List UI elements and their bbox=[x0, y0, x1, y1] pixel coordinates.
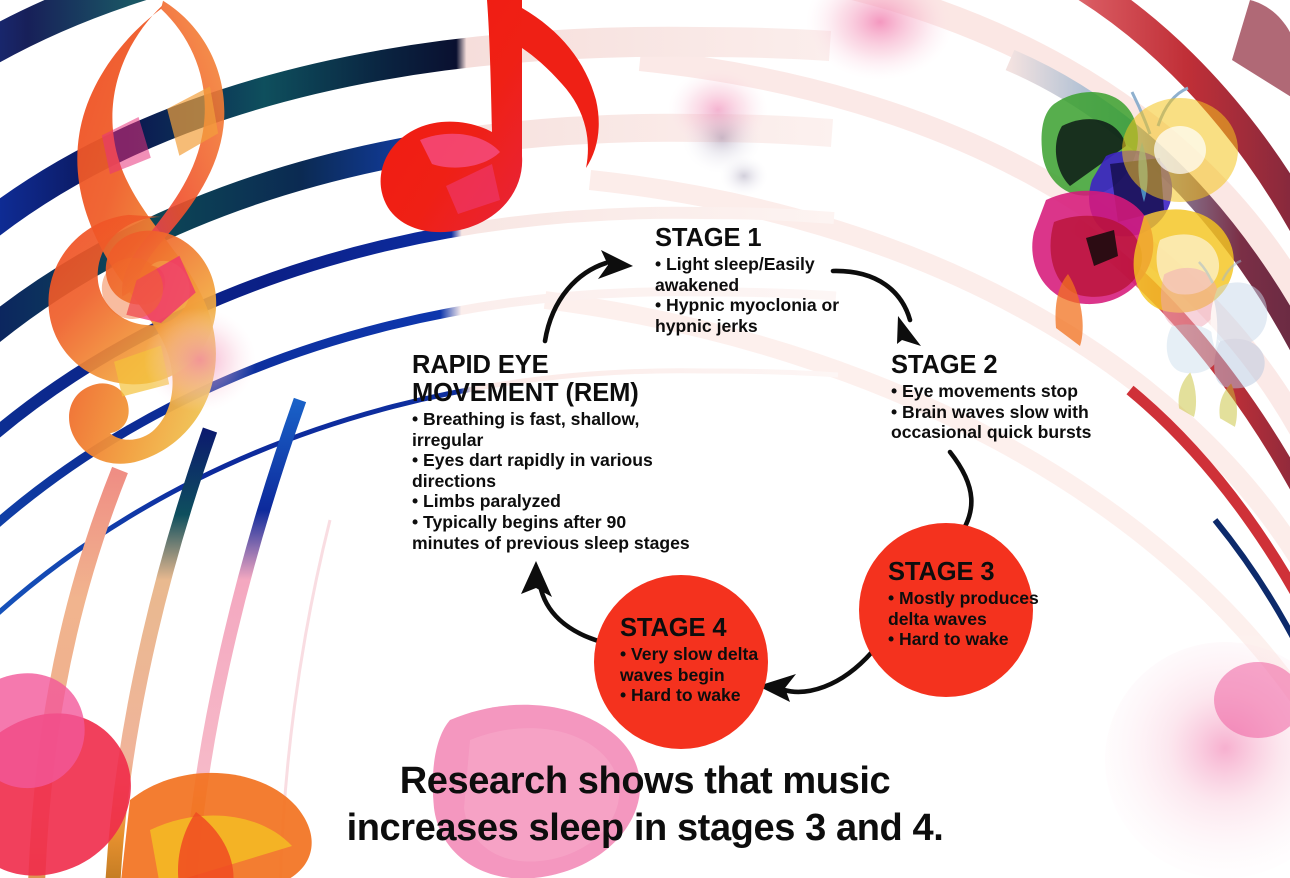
stage-title-stage1: STAGE 1 bbox=[655, 224, 855, 252]
stage-node-stage2[interactable]: STAGE 2 • Eye movements stop • Brain wav… bbox=[891, 351, 1097, 443]
stage-body-stage3: • Mostly produces delta waves • Hard to … bbox=[888, 588, 1048, 650]
stage-title-rem: RAPID EYE MOVEMENT (REM) bbox=[412, 351, 700, 407]
stage-body-stage2: • Eye movements stop • Brain waves slow … bbox=[891, 381, 1097, 443]
poster-caption: Research shows that music increases slee… bbox=[0, 758, 1290, 852]
stage-node-stage1[interactable]: STAGE 1 • Light sleep/Easily awakened • … bbox=[655, 224, 855, 336]
sleep-cycle-diagram: RAPID EYE MOVEMENT (REM) • Breathing is … bbox=[0, 0, 1290, 878]
stage-node-stage4[interactable]: STAGE 4 • Very slow delta waves begin • … bbox=[620, 614, 772, 706]
stage-title-stage4: STAGE 4 bbox=[620, 614, 772, 642]
stage-title-stage3: STAGE 3 bbox=[888, 558, 1048, 586]
stage-body-stage1: • Light sleep/Easily awakened • Hypnic m… bbox=[655, 254, 855, 336]
stage-node-stage3[interactable]: STAGE 3 • Mostly produces delta waves • … bbox=[888, 558, 1048, 650]
stage-node-rem[interactable]: RAPID EYE MOVEMENT (REM) • Breathing is … bbox=[412, 351, 700, 553]
stage-title-stage2: STAGE 2 bbox=[891, 351, 1097, 379]
infographic-poster: RAPID EYE MOVEMENT (REM) • Breathing is … bbox=[0, 0, 1290, 878]
stage-body-rem: • Breathing is fast, shallow, irregular … bbox=[412, 409, 700, 553]
stage-body-stage4: • Very slow delta waves begin • Hard to … bbox=[620, 644, 772, 706]
